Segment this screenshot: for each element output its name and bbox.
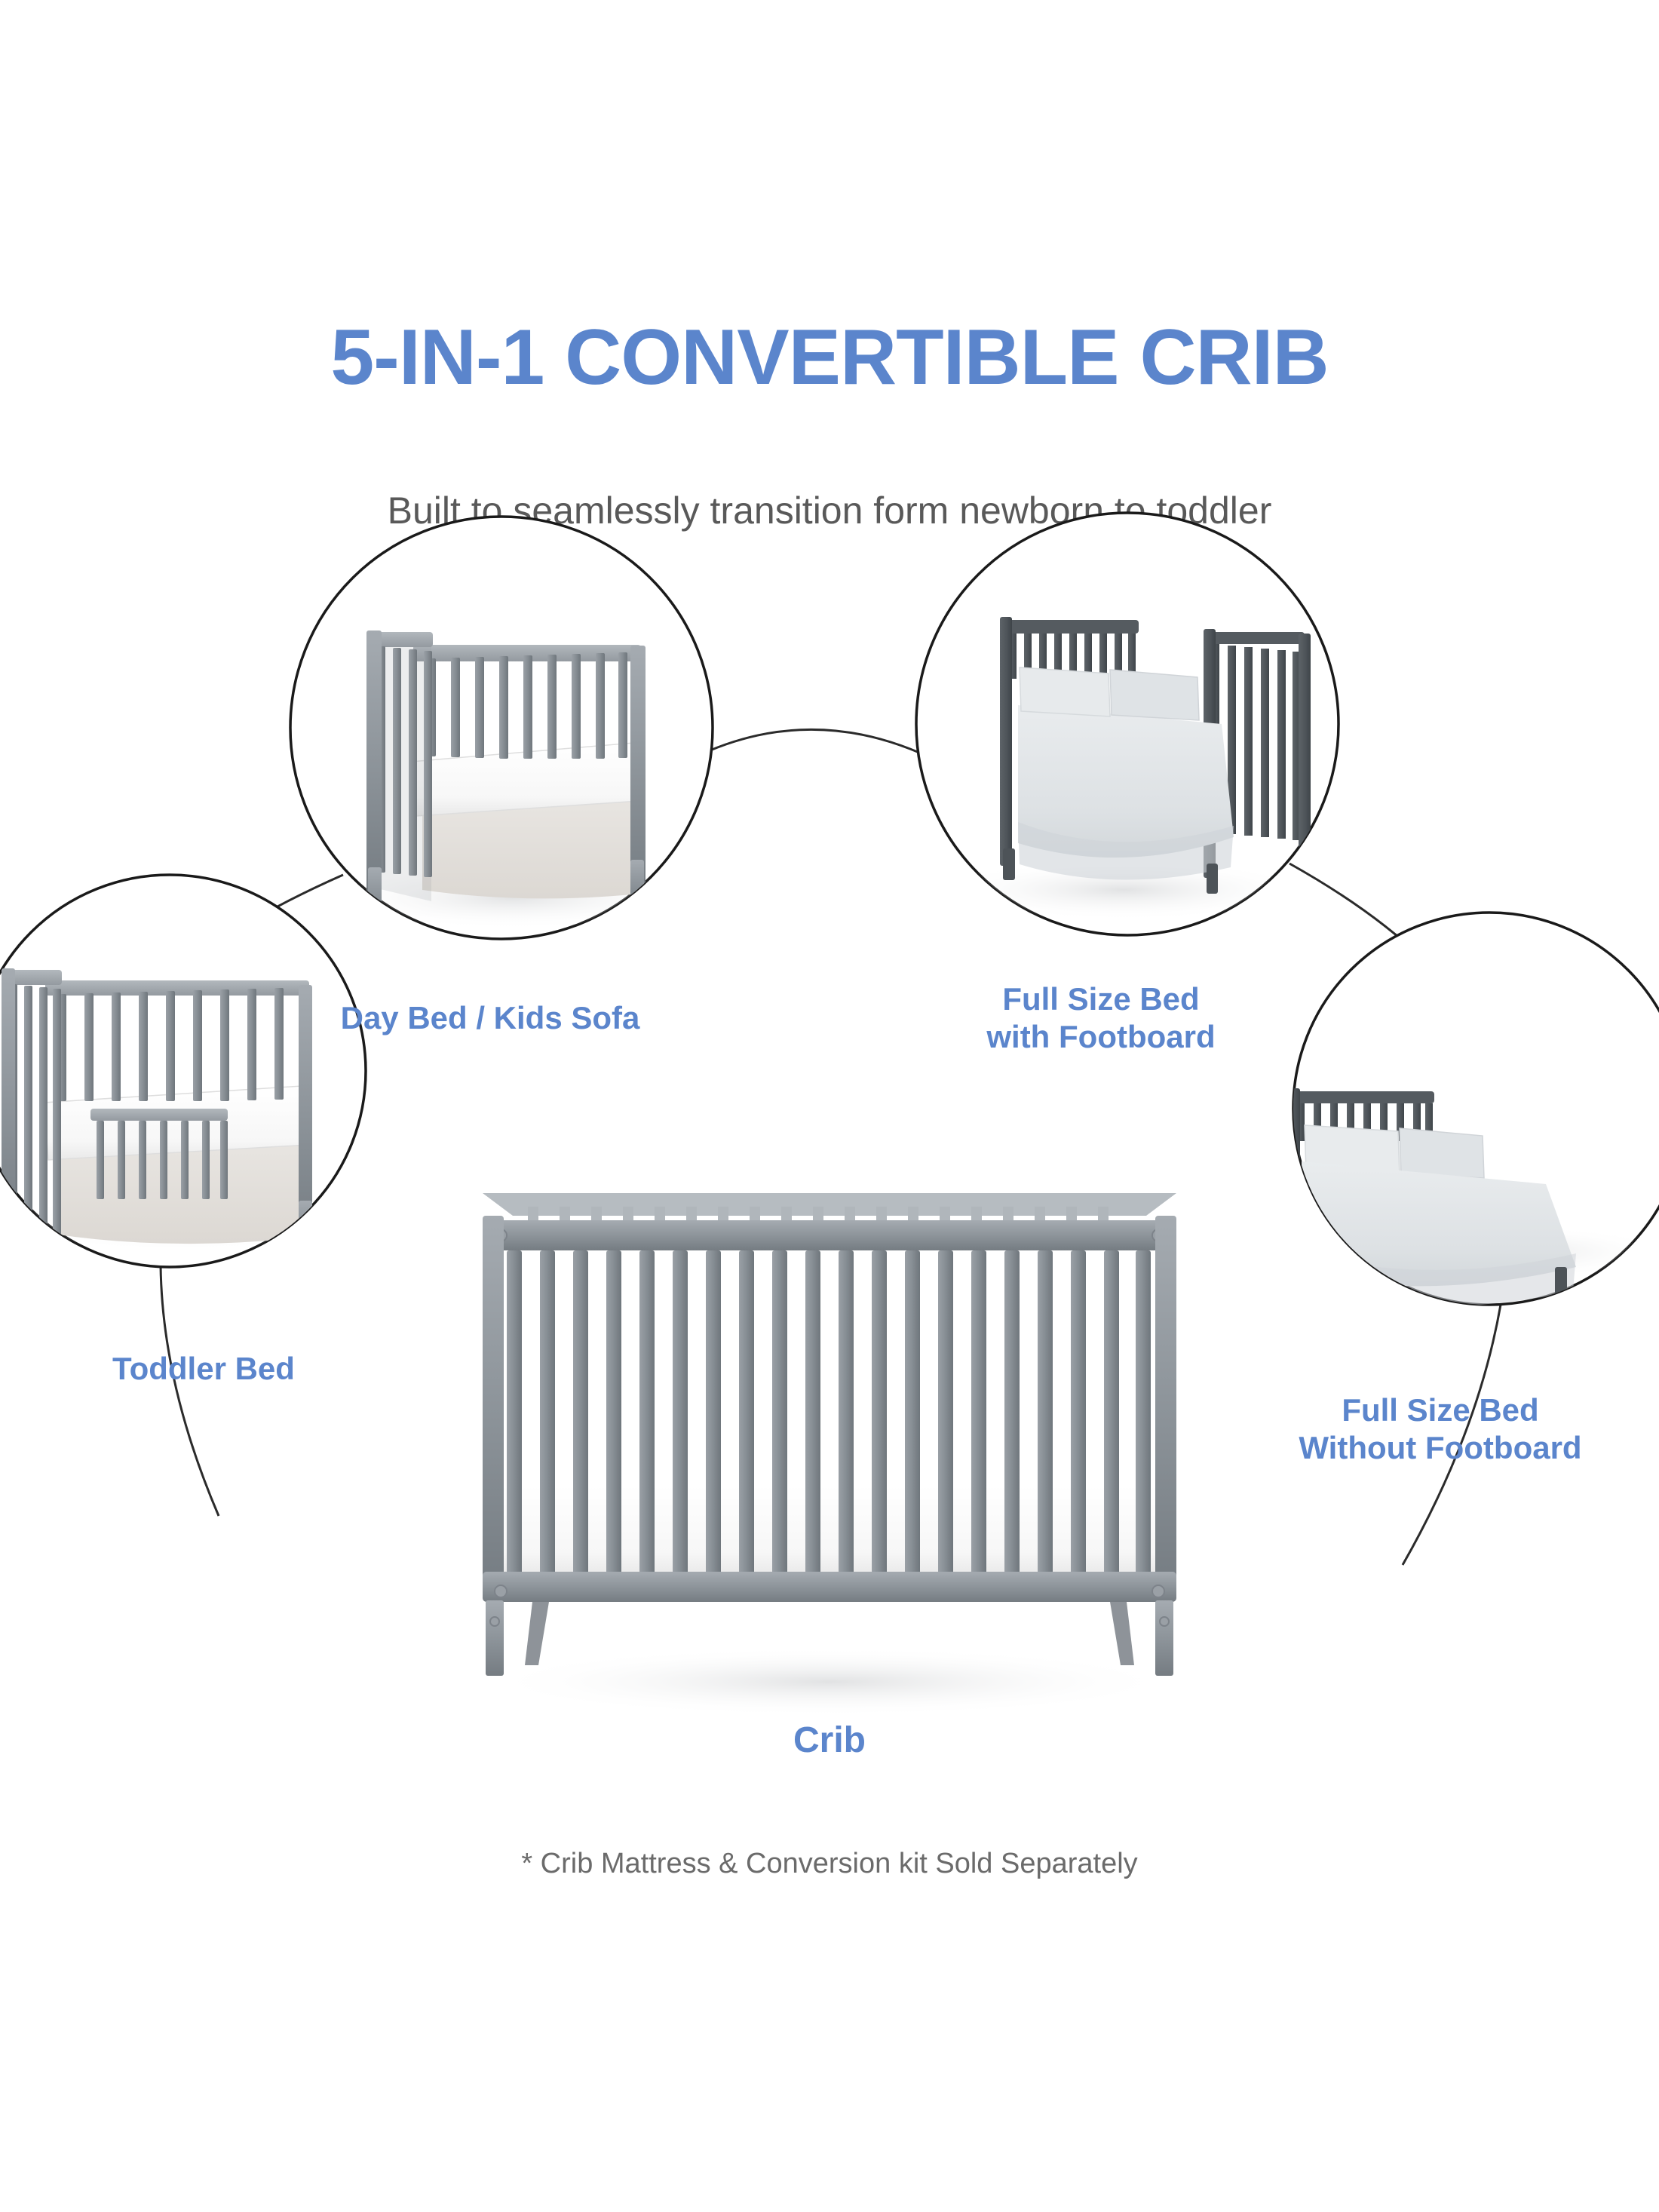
illustration-area — [0, 0, 1659, 2212]
config-circle-full-size-bed-without-footboard[interactable] — [1288, 913, 1659, 1306]
label-day-bed: Day Bed / Kids Sofa — [249, 999, 731, 1037]
connector-daybed-to-fullfoot — [701, 729, 939, 762]
footnote-text: * Crib Mattress & Conversion kit Sold Se… — [0, 1848, 1659, 1880]
infographic-root: 5-IN-1 CONVERTIBLE CRIB Built to seamles… — [0, 0, 1659, 2212]
label-full-size-bed-with-footboard: Full Size Bed with Footboard — [890, 980, 1312, 1055]
label-toddler-bed: Toddler Bed — [0, 1350, 422, 1388]
main-crib-illustration — [483, 1193, 1176, 1717]
label-full-size-bed-without-footboard: Full Size Bed Without Footboard — [1222, 1391, 1659, 1466]
config-circle-day-bed[interactable] — [290, 517, 713, 939]
connector-toddler-to-crib — [161, 1266, 219, 1516]
config-circle-toddler-bed[interactable] — [0, 875, 366, 1267]
label-crib: Crib — [528, 1720, 1131, 1763]
config-circle-full-size-bed-with-footboard[interactable] — [916, 513, 1339, 935]
